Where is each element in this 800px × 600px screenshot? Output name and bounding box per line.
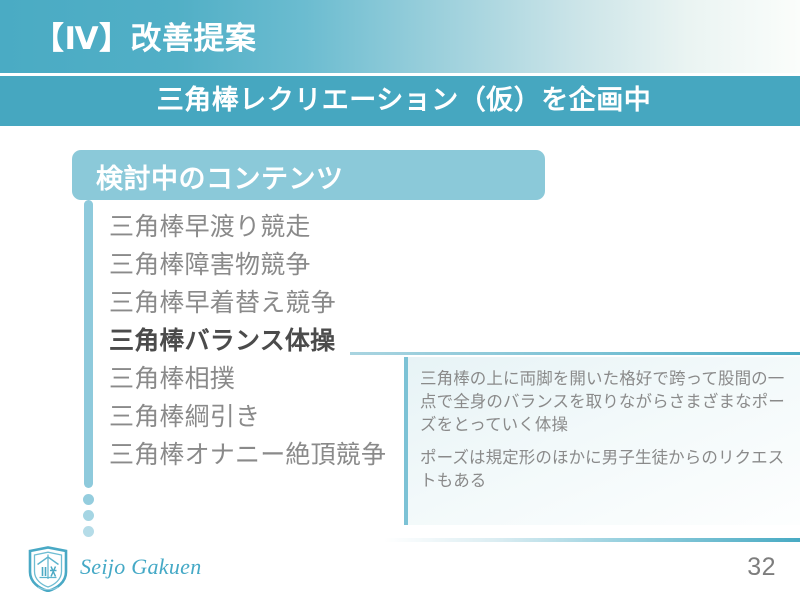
list-item: 三角棒オナニー絶頂競争 — [109, 436, 429, 474]
page-title: 【Ⅳ】改善提案 — [33, 13, 257, 58]
accent-dot-2 — [83, 510, 94, 521]
content-heading-label: 検討中のコンテンツ — [96, 157, 344, 196]
accent-dot-1 — [83, 494, 94, 505]
description-paragraph: 三角棒の上に両脚を開いた格好で跨って股間の一点で全身のバランスを取りながらさまざ… — [420, 368, 790, 437]
list-item: 三角棒早渡り競走 — [109, 208, 429, 246]
content-list: 三角棒早渡り競走 三角棒障害物競争 三角棒早着替え競争 三角棒バランス体操 三角… — [109, 208, 429, 474]
shield-crest-icon — [26, 546, 70, 592]
list-accent-bar — [84, 200, 93, 488]
description-panel: 三角棒の上に両脚を開いた格好で跨って股間の一点で全身のバランスを取りながらさまざ… — [404, 357, 800, 525]
accent-dot-3 — [83, 526, 94, 537]
list-item: 三角棒綱引き — [109, 398, 429, 436]
page-number: 32 — [747, 553, 776, 582]
footer-divider — [0, 538, 800, 542]
description-paragraph: ポーズは規定形のほかに男子生徒からのリクエストもある — [420, 447, 790, 493]
list-item: 三角棒相撲 — [109, 360, 429, 398]
list-item: 三角棒障害物競争 — [109, 246, 429, 284]
footer-brand-name: Seijo Gakuen — [80, 554, 202, 580]
list-item: 三角棒早着替え競争 — [109, 284, 429, 322]
subtitle-text: 三角棒レクリエーション（仮）を企画中 — [0, 78, 800, 117]
callout-connector-line — [350, 352, 800, 355]
